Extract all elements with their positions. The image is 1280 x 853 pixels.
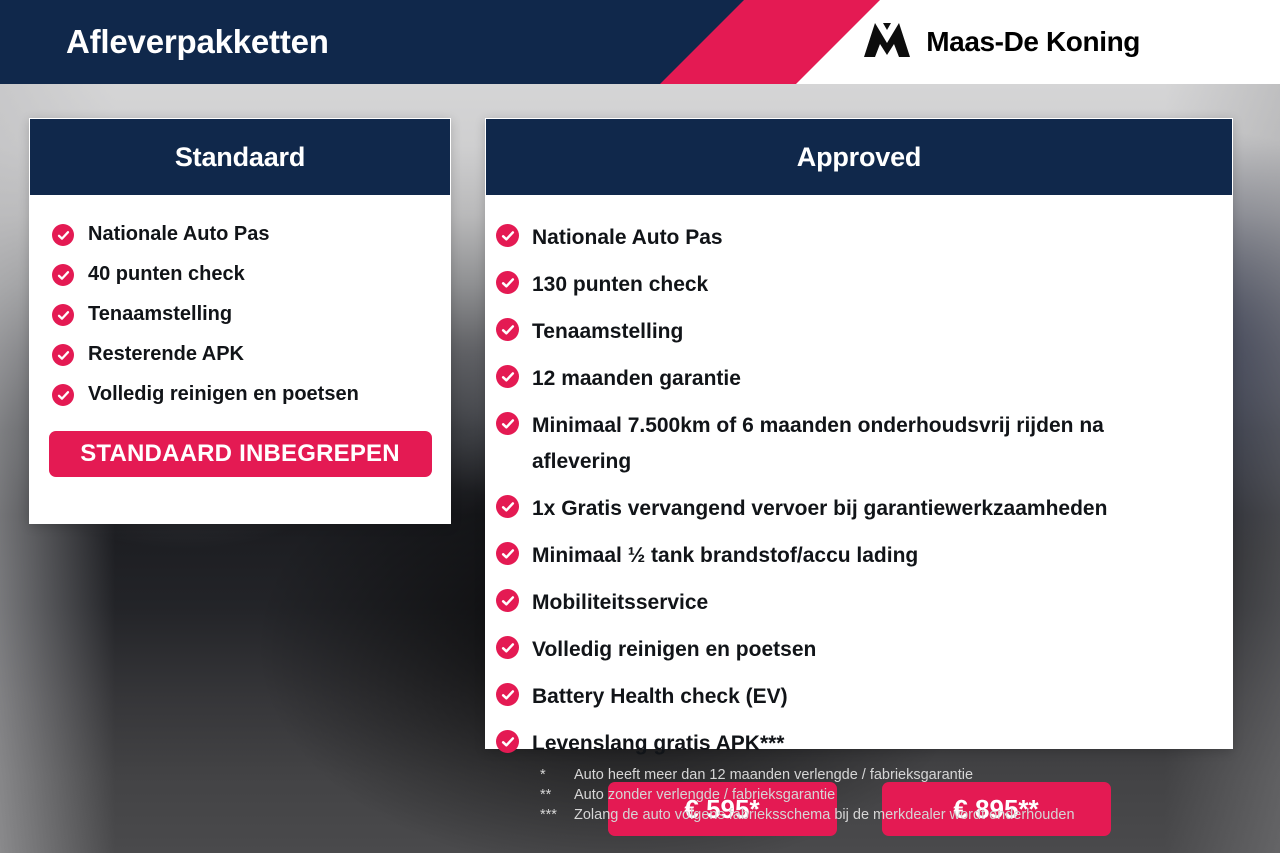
footnote-text: Zolang de auto volgens fabrieksschema bi… — [574, 805, 1075, 825]
package-card-standaard: Standaard Nationale Auto Pas 40 punten c… — [29, 118, 451, 524]
check-circle-icon — [52, 304, 74, 326]
list-item: Volledig reinigen en poetsen — [496, 632, 1232, 668]
list-item: Nationale Auto Pas — [496, 220, 1232, 256]
check-circle-icon — [496, 636, 519, 659]
check-circle-icon — [496, 318, 519, 341]
feature-label: Volledig reinigen en poetsen — [532, 632, 816, 668]
list-item: Mobiliteitsservice — [496, 585, 1232, 621]
page-title: Afleverpakketten — [66, 0, 329, 84]
footnote-marker: * — [540, 765, 574, 785]
feature-label: Tenaamstelling — [88, 301, 232, 328]
footnote-text: Auto zonder verlengde / fabrieksgarantie — [574, 785, 835, 805]
page-root: Afleverpakketten Maas-De Koning Standaar… — [0, 0, 1280, 853]
check-circle-icon — [496, 224, 519, 247]
list-item: 12 maanden garantie — [496, 361, 1232, 397]
check-circle-icon — [52, 344, 74, 366]
standaard-included-button[interactable]: STANDAARD INBEGREPEN — [49, 431, 432, 477]
footnotes: * Auto heeft meer dan 12 maanden verleng… — [540, 765, 1240, 825]
card-header-approved: Approved — [486, 119, 1232, 195]
feature-label: Nationale Auto Pas — [532, 220, 723, 256]
feature-label: Minimaal 7.500km of 6 maanden onderhouds… — [532, 408, 1132, 480]
brand-lockup: Maas-De Koning — [861, 0, 1140, 84]
footnote-row: ** Auto zonder verlengde / fabrieksgaran… — [540, 785, 1240, 805]
check-circle-icon — [496, 542, 519, 565]
check-circle-icon — [496, 589, 519, 612]
list-item: Minimaal ½ tank brandstof/accu lading — [496, 538, 1232, 574]
check-circle-icon — [52, 264, 74, 286]
check-circle-icon — [496, 683, 519, 706]
feature-label: 12 maanden garantie — [532, 361, 741, 397]
top-banner: Afleverpakketten Maas-De Koning — [0, 0, 1280, 84]
card-title-approved: Approved — [797, 142, 921, 173]
feature-label: Resterende APK — [88, 341, 244, 368]
feature-label: Mobiliteitsservice — [532, 585, 708, 621]
list-item: 40 punten check — [52, 261, 450, 288]
check-circle-icon — [496, 495, 519, 518]
feature-label: Levenslang gratis APK*** — [532, 726, 784, 762]
feature-label: 1x Gratis vervangend vervoer bij garanti… — [532, 491, 1107, 527]
feature-label: Tenaamstelling — [532, 314, 683, 350]
footnote-row: *** Zolang de auto volgens fabrieksschem… — [540, 805, 1240, 825]
feature-label: Minimaal ½ tank brandstof/accu lading — [532, 538, 918, 574]
check-circle-icon — [52, 384, 74, 406]
list-item: Resterende APK — [52, 341, 450, 368]
brand-name: Maas-De Koning — [926, 26, 1140, 58]
list-item: 1x Gratis vervangend vervoer bij garanti… — [496, 491, 1232, 527]
list-item: Volledig reinigen en poetsen — [52, 381, 450, 408]
list-item: 130 punten check — [496, 267, 1232, 303]
feature-list-standaard: Nationale Auto Pas 40 punten check Tenaa… — [52, 221, 450, 408]
package-card-approved: Approved Nationale Auto Pas 130 punten c… — [485, 118, 1233, 749]
list-item: Nationale Auto Pas — [52, 221, 450, 248]
card-header-standaard: Standaard — [30, 119, 450, 195]
card-body-approved: Nationale Auto Pas 130 punten check Tena… — [486, 220, 1232, 836]
footnote-text: Auto heeft meer dan 12 maanden verlengde… — [574, 765, 973, 785]
feature-label: 40 punten check — [88, 261, 245, 288]
card-title-standaard: Standaard — [175, 142, 305, 173]
check-circle-icon — [496, 365, 519, 388]
check-circle-icon — [496, 730, 519, 753]
check-circle-icon — [496, 412, 519, 435]
maas-de-koning-logo-icon — [861, 21, 913, 64]
footnote-marker: ** — [540, 785, 574, 805]
check-circle-icon — [496, 271, 519, 294]
feature-label: Volledig reinigen en poetsen — [88, 381, 359, 408]
feature-list-approved: Nationale Auto Pas 130 punten check Tena… — [496, 220, 1232, 762]
list-item: Tenaamstelling — [496, 314, 1232, 350]
footnote-row: * Auto heeft meer dan 12 maanden verleng… — [540, 765, 1240, 785]
footnote-marker: *** — [540, 805, 574, 825]
card-body-standaard: Nationale Auto Pas 40 punten check Tenaa… — [30, 221, 450, 477]
list-item: Minimaal 7.500km of 6 maanden onderhouds… — [496, 408, 1232, 480]
list-item: Tenaamstelling — [52, 301, 450, 328]
feature-label: Battery Health check (EV) — [532, 679, 788, 715]
check-circle-icon — [52, 224, 74, 246]
list-item: Battery Health check (EV) — [496, 679, 1232, 715]
feature-label: Nationale Auto Pas — [88, 221, 270, 248]
feature-label: 130 punten check — [532, 267, 708, 303]
list-item: Levenslang gratis APK*** — [496, 726, 1232, 762]
